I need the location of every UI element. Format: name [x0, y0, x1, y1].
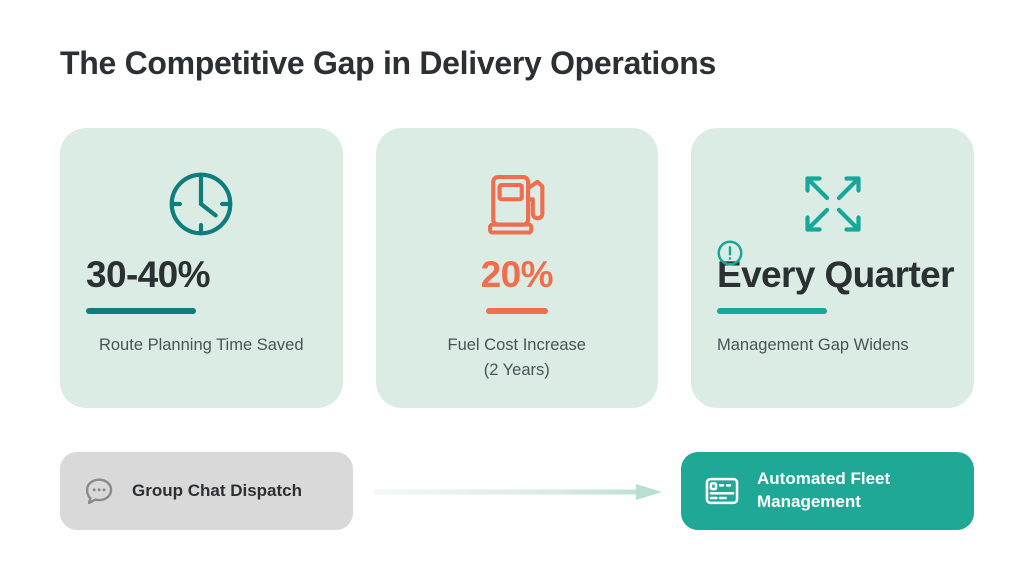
stat-label: Management Gap Widens	[717, 333, 909, 359]
stat-card-row: 30-40% Route Planning Time Saved 20%	[60, 128, 974, 408]
clock-icon	[162, 165, 240, 243]
stat-card-fuel-cost: 20% Fuel Cost Increase (2 Years)	[376, 128, 659, 408]
stat-value: 20%	[481, 256, 553, 295]
transition-flow-row: Group Chat Dispatch	[60, 452, 974, 532]
fleet-dashboard-icon	[703, 472, 741, 510]
stat-underline	[717, 308, 827, 314]
stat-label-line-2: (2 Years)	[402, 358, 633, 384]
flow-from-pill-group-chat-dispatch[interactable]: Group Chat Dispatch	[60, 452, 353, 530]
stat-label: Fuel Cost Increase (2 Years)	[402, 333, 633, 384]
card-icon-container	[402, 152, 633, 256]
infographic-page: The Competitive Gap in Delivery Operatio…	[0, 0, 1024, 585]
page-title: The Competitive Gap in Delivery Operatio…	[60, 45, 716, 82]
flow-from-label: Group Chat Dispatch	[132, 481, 302, 501]
card-icon-container	[86, 152, 317, 256]
arrow-right-icon	[374, 482, 662, 502]
flow-to-label: Automated Fleet Management	[757, 468, 890, 513]
alert-circle-icon	[715, 238, 745, 268]
flow-to-label-line-2: Management	[757, 491, 890, 514]
stat-value: Every Quarter	[717, 256, 954, 295]
stat-card-management-gap: Every Quarter Management Gap Widens	[691, 128, 974, 408]
fuel-pump-icon	[479, 166, 555, 242]
stat-underline	[86, 308, 196, 314]
flow-to-label-line-1: Automated Fleet	[757, 468, 890, 491]
stat-card-route-planning: 30-40% Route Planning Time Saved	[60, 128, 343, 408]
converge-arrows-icon	[797, 168, 869, 240]
stat-value: 30-40%	[86, 256, 210, 295]
chat-bubble-dots-icon	[82, 474, 116, 508]
card-icon-container	[717, 152, 948, 256]
stat-underline	[486, 308, 548, 314]
stat-label-line-1: Fuel Cost Increase	[402, 333, 633, 359]
flow-to-pill-automated-fleet-management[interactable]: Automated Fleet Management	[681, 452, 974, 530]
stat-label: Route Planning Time Saved	[86, 333, 317, 359]
